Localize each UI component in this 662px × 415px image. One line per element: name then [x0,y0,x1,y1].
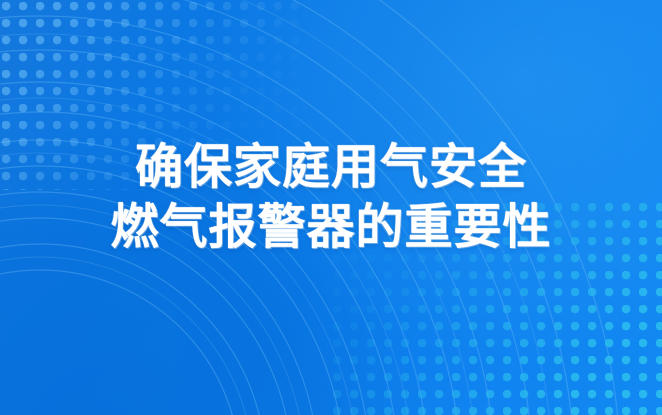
title-line-1: 确保家庭用气安全 [0,138,662,198]
title-line-2: 燃气报警器的重要性 [0,198,662,258]
page-title: 确保家庭用气安全 燃气报警器的重要性 [0,138,662,258]
poster-banner: 确保家庭用气安全 燃气报警器的重要性 [0,0,662,415]
